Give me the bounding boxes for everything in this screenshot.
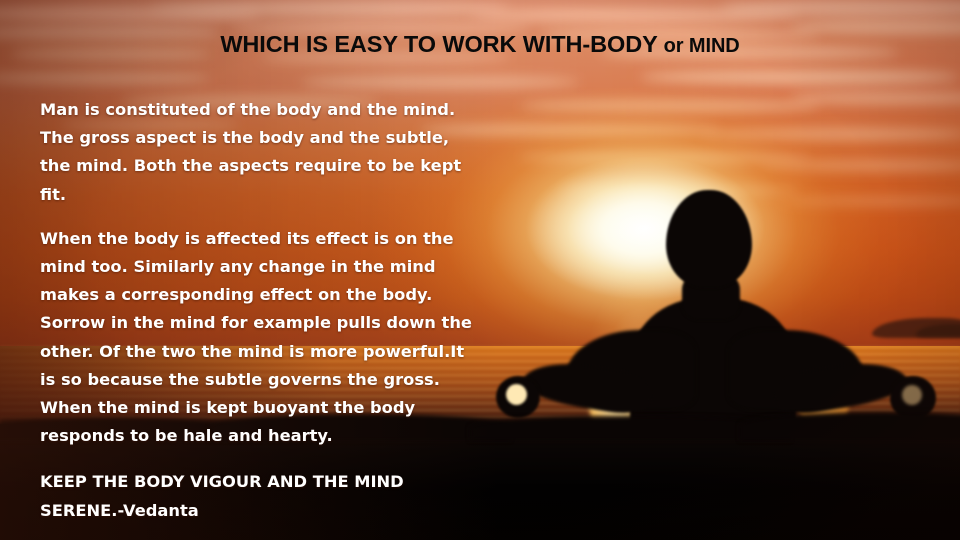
text-line: other. Of the two the mind is more power…: [40, 338, 500, 366]
text-line: The gross aspect is the body and the sub…: [40, 124, 500, 152]
slide-canvas: WHICH IS EASY TO WORK WITH-BODY or MIND …: [0, 0, 960, 540]
figure-neck: [682, 272, 740, 320]
text-line: When the body is affected its effect is …: [40, 225, 500, 253]
text-line: is so because the subtle governs the gro…: [40, 366, 500, 394]
text-line: Sorrow in the mind for example pulls dow…: [40, 309, 500, 337]
text-line: the mind. Both the aspects require to be…: [40, 152, 500, 180]
figure-head: [666, 190, 752, 288]
text-line: Man is constituted of the body and the m…: [40, 96, 500, 124]
text-line: makes a corresponding effect on the body…: [40, 281, 500, 309]
slide-body-text: Man is constituted of the body and the m…: [40, 96, 500, 525]
text-line: When the mind is kept buoyant the body: [40, 394, 500, 422]
paragraph-3-closing: KEEP THE BODY VIGOUR AND THE MIND SERENE…: [40, 468, 500, 524]
slide-title-main: WHICH IS EASY TO WORK WITH-BODY: [220, 31, 657, 57]
text-line: SERENE.-Vedanta: [40, 497, 500, 525]
text-line: KEEP THE BODY VIGOUR AND THE MIND: [40, 468, 500, 496]
text-line: responds to be hale and hearty.: [40, 422, 500, 450]
paragraph-2: When the body is affected its effect is …: [40, 225, 500, 451]
slide-title: WHICH IS EASY TO WORK WITH-BODY or MIND: [0, 31, 960, 58]
slide-title-suffix: or MIND: [664, 35, 740, 57]
paragraph-1: Man is constituted of the body and the m…: [40, 96, 500, 209]
text-line: mind too. Similarly any change in the mi…: [40, 253, 500, 281]
text-line: fit.: [40, 181, 500, 209]
